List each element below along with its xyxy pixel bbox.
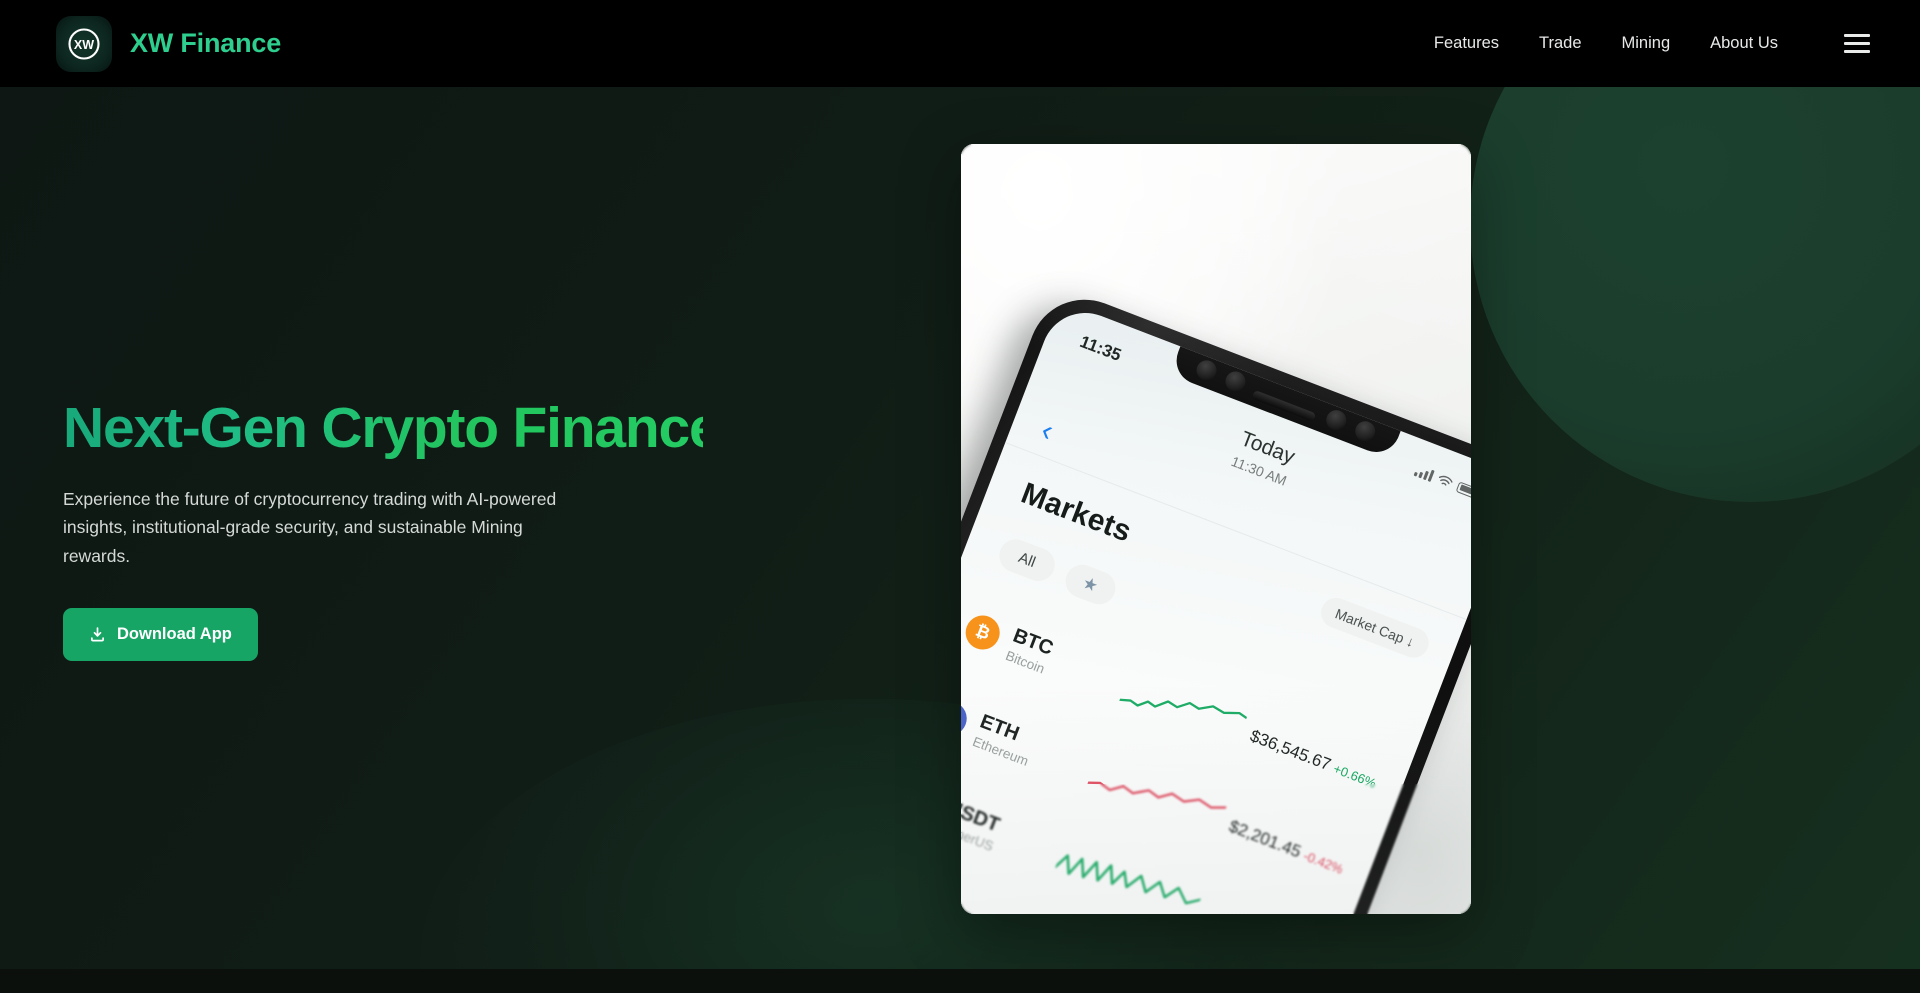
signal-bars-icon: [1414, 464, 1435, 482]
coin-value: $1.00: [1221, 913, 1268, 914]
coin-price: $1.00 +0.01%: [1202, 906, 1314, 914]
download-app-button[interactable]: Download App: [63, 608, 258, 661]
main-nav: Features Trade Mining About Us: [1434, 31, 1870, 57]
svg-text:XW: XW: [74, 38, 94, 52]
star-icon[interactable]: ★: [1061, 560, 1121, 609]
nav-item-trade[interactable]: Trade: [1539, 34, 1582, 53]
battery-icon: [1456, 481, 1471, 499]
chevron-left-icon[interactable]: ‹: [1037, 415, 1057, 447]
coin-value: $36,545.67: [1247, 726, 1333, 774]
coin-change: -0.42%: [1301, 848, 1345, 877]
wifi-icon: [1436, 473, 1454, 490]
hamburger-bar: [1844, 34, 1870, 37]
nav-item-mining[interactable]: Mining: [1622, 34, 1671, 53]
photo-backdrop: 11:35 Today 11:30 AM: [961, 144, 1471, 914]
filter-chip-all[interactable]: All: [995, 535, 1060, 586]
phone-screen: 11:35 Today 11:30 AM: [961, 300, 1471, 914]
nav-item-about-us[interactable]: About Us: [1710, 34, 1778, 53]
hero-section: Next-Gen Crypto Finance Experience the f…: [0, 87, 1920, 969]
hamburger-bar: [1844, 42, 1870, 45]
coin-meta: BTC Bitcoin: [1004, 625, 1123, 702]
hero-copy: Next-Gen Crypto Finance Experience the f…: [63, 399, 703, 661]
landing-page: XW XW Finance Features Trade Mining Abou…: [0, 0, 1920, 993]
sparkline-chart: [1117, 667, 1249, 751]
coin-change: +0.66%: [1331, 761, 1378, 791]
page-bottom-strip: [0, 969, 1920, 993]
hero-subtitle: Experience the future of cryptocurrency …: [63, 485, 563, 570]
coin-value: $2,201.45: [1226, 817, 1303, 862]
markets-heading: Markets: [1016, 477, 1135, 550]
coin-meta: USDT TetherUS: [961, 796, 1056, 873]
phone-device: 11:35 Today 11:30 AM: [961, 283, 1471, 914]
ethereum-icon: Ξ: [961, 696, 972, 740]
download-icon: [89, 626, 106, 643]
hamburger-menu-icon[interactable]: [1844, 31, 1870, 57]
site-header: XW XW Finance Features Trade Mining Abou…: [0, 0, 1920, 87]
nav-item-features[interactable]: Features: [1434, 34, 1499, 53]
coin-meta: ETH Ethereum: [971, 711, 1090, 788]
xw-circle-logo-icon: XW: [56, 16, 112, 72]
market-cap-sort-pill[interactable]: Market Cap ↓: [1317, 593, 1433, 662]
bitcoin-icon: ₿: [961, 611, 1005, 655]
page-title: Next-Gen Crypto Finance: [63, 399, 703, 459]
status-time: 11:35: [1077, 332, 1124, 366]
brand-logo-link[interactable]: XW XW Finance: [56, 16, 281, 72]
coin-price: $36,545.67 +0.66%: [1247, 726, 1379, 793]
decorative-circle: [1470, 87, 1920, 502]
download-app-label: Download App: [117, 625, 232, 644]
hero-phone-image: 11:35 Today 11:30 AM: [961, 144, 1471, 914]
coin-price: $2,201.45 -0.42%: [1226, 817, 1346, 879]
brand-name: XW Finance: [130, 28, 281, 59]
hamburger-bar: [1844, 50, 1870, 53]
